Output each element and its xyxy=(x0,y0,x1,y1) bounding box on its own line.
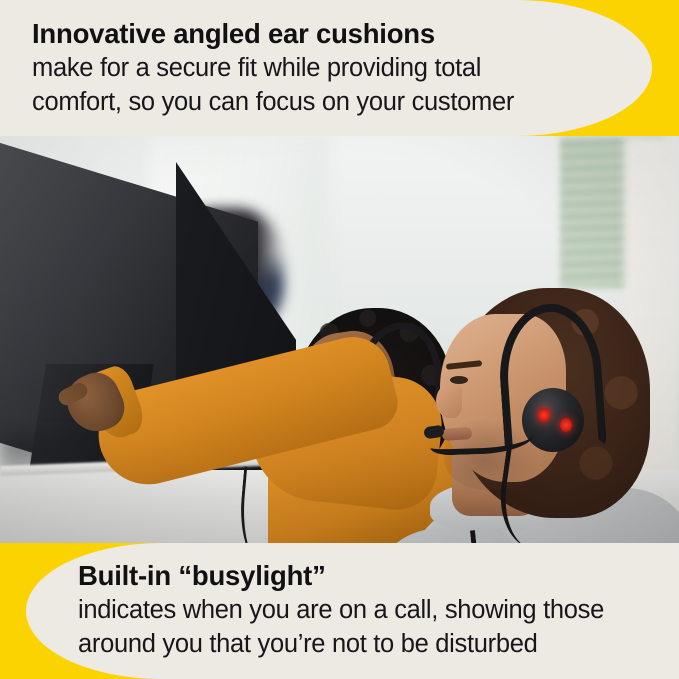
product-feature-poster: Innovative angled ear cushions make for … xyxy=(0,0,679,679)
top-callout-band: Innovative angled ear cushions make for … xyxy=(0,0,679,136)
bottom-callout-band: Built-in “busylight” indicates when you … xyxy=(0,543,679,679)
top-callout-body-line-1: make for a secure fit while providing to… xyxy=(32,52,632,85)
top-callout-body-line-2: comfort, so you can focus on your custom… xyxy=(32,86,632,119)
photo-vignette xyxy=(0,136,679,543)
bottom-callout-panel: Built-in “busylight” indicates when you … xyxy=(26,543,679,679)
bottom-callout-body-line-1: indicates when you are on a call, showin… xyxy=(78,594,679,627)
bottom-callout-body-line-2: around you that you’re not to be disturb… xyxy=(78,628,679,661)
bottom-callout-headline: Built-in “busylight” xyxy=(78,558,679,593)
bottom-callout-text: Built-in “busylight” indicates when you … xyxy=(78,558,679,661)
top-callout-panel: Innovative angled ear cushions make for … xyxy=(0,0,652,136)
product-lifestyle-photo xyxy=(0,136,679,543)
top-callout-headline: Innovative angled ear cushions xyxy=(32,16,632,51)
top-callout-text: Innovative angled ear cushions make for … xyxy=(32,16,632,119)
